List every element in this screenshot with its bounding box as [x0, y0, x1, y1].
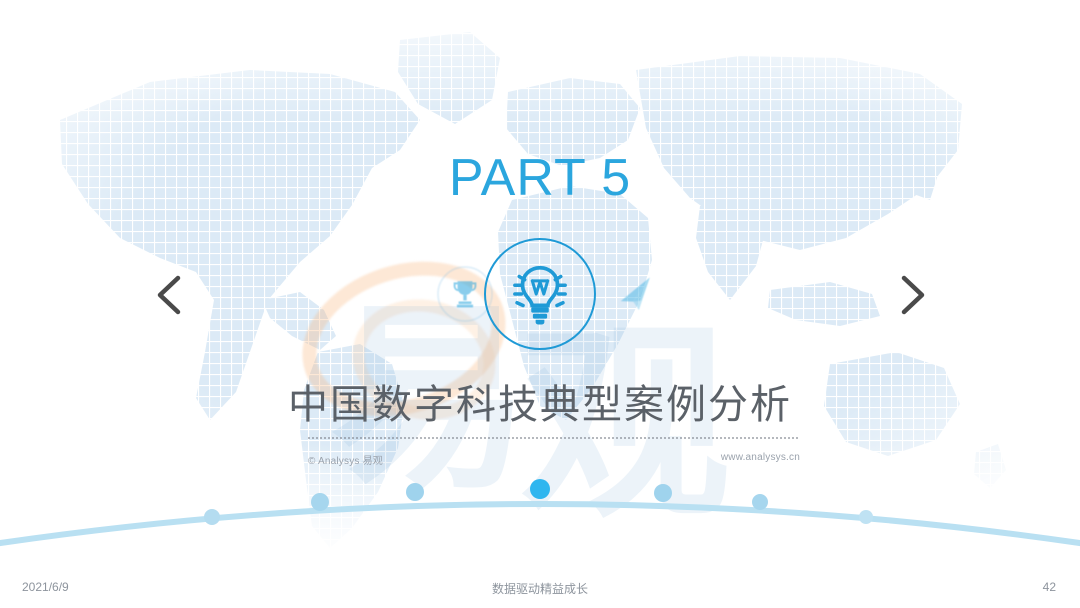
section-progress-arc: [0, 462, 1080, 568]
slide-statusbar: 2021/6/9 数据驱动精益成长 42: [0, 568, 1080, 608]
progress-dot-6[interactable]: [752, 494, 768, 510]
next-section-arrow[interactable]: [890, 270, 936, 320]
progress-dot-4-active[interactable]: [530, 479, 550, 499]
progress-arc-svg: [0, 462, 1080, 568]
progress-dot-5[interactable]: [654, 484, 672, 502]
page-title: 中国数字科技典型案例分析: [0, 372, 1080, 430]
statusbar-tagline: 数据驱动精益成长: [0, 580, 1080, 597]
progress-dot-2[interactable]: [311, 493, 329, 511]
paper-plane-icon[interactable]: [608, 268, 666, 324]
progress-arc-line: [0, 504, 1080, 546]
part-label: PART 5: [0, 148, 1080, 208]
chevron-right-icon: [890, 270, 934, 320]
lightbulb-icon[interactable]: [484, 238, 596, 350]
chevron-left-icon: [148, 270, 192, 320]
lightbulb-icon-glyph: [505, 259, 575, 329]
progress-dot-1[interactable]: [204, 509, 220, 525]
progress-dot-7[interactable]: [859, 510, 873, 524]
trophy-icon-glyph: [448, 277, 482, 311]
paper-plane-icon-glyph: [616, 277, 658, 315]
prev-section-arrow[interactable]: [148, 270, 194, 320]
divider: [308, 437, 800, 439]
statusbar-page-number: 42: [1043, 580, 1056, 594]
progress-dot-3[interactable]: [406, 483, 424, 501]
slide-canvas: 易 观 PART 5: [0, 0, 1080, 568]
